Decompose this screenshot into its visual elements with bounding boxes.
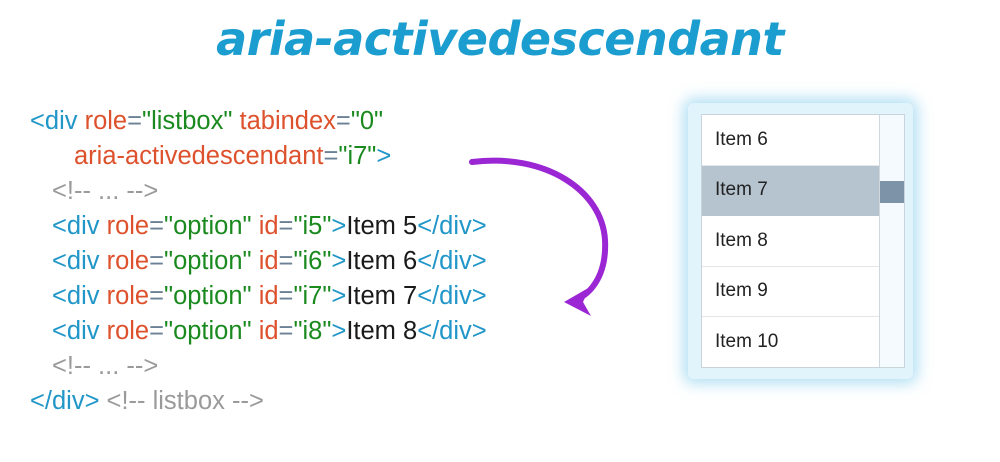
code-token-tag: <div xyxy=(52,212,107,240)
code-token-str: "i5" xyxy=(293,212,331,240)
code-token-attr: role xyxy=(107,317,150,345)
code-token-attr: id xyxy=(252,282,279,310)
code-token-str: "listbox" xyxy=(142,107,232,135)
code-token-tag: </div> xyxy=(417,212,486,240)
code-token-comment: <!-- listbox --> xyxy=(99,387,263,415)
listbox-option-i8[interactable]: Item 8 xyxy=(702,216,879,267)
option-list: Item 6Item 7Item 8Item 9Item 10 xyxy=(702,115,879,367)
listbox-option-label: Item 6 xyxy=(715,129,768,151)
code-token-str: "option" xyxy=(164,282,252,310)
code-token-attr: role xyxy=(85,107,128,135)
code-token-txt: Item 5 xyxy=(346,212,417,240)
listbox-widget: Item 6Item 7Item 8Item 9Item 10 xyxy=(688,103,918,381)
code-token-str: "option" xyxy=(164,212,252,240)
code-token-eq: = xyxy=(336,107,351,135)
code-token-tag: > xyxy=(331,247,346,275)
code-token-attr: role xyxy=(107,282,150,310)
code-token-eq: = xyxy=(279,317,294,345)
line-option-i5: <div role="option" id="i5">Item 5</div> xyxy=(30,209,487,244)
line-comment-top: <!-- ... --> xyxy=(30,174,487,209)
code-token-txt: Item 6 xyxy=(346,247,417,275)
code-sample: <div role="listbox" tabindex="0"aria-act… xyxy=(30,104,487,419)
code-token-str: "i7" xyxy=(338,142,376,170)
listbox-option-label: Item 8 xyxy=(715,230,768,252)
code-token-attr: id xyxy=(252,317,279,345)
code-token-tag: <div xyxy=(52,317,107,345)
line-option-i8: <div role="option" id="i8">Item 8</div> xyxy=(30,314,487,349)
line-close-listbox: </div> <!-- listbox --> xyxy=(30,384,487,419)
code-token-str: "option" xyxy=(164,247,252,275)
line-option-i7: <div role="option" id="i7">Item 7</div> xyxy=(30,279,487,314)
listbox-option-label: Item 9 xyxy=(715,280,768,302)
code-token-attr: aria-activedescendant xyxy=(74,142,323,170)
code-token-attr: role xyxy=(107,212,150,240)
page-title: aria-activedescendant xyxy=(0,12,1000,66)
listbox-option-label: Item 10 xyxy=(715,331,778,353)
code-token-tag: <div xyxy=(52,282,107,310)
line-comment-bottom: <!-- ... --> xyxy=(30,349,487,384)
line-open-listbox: <div role="listbox" tabindex="0" xyxy=(30,104,487,139)
listbox-option-i7[interactable]: Item 7 xyxy=(702,166,879,217)
code-token-eq: = xyxy=(127,107,142,135)
code-token-tag: <div xyxy=(30,107,85,135)
code-token-str: "option" xyxy=(164,317,252,345)
code-token-attr: id xyxy=(252,212,279,240)
code-token-tag: </div> xyxy=(417,317,486,345)
code-token-tag: <div xyxy=(52,247,107,275)
code-token-comment: <!-- ... --> xyxy=(52,352,158,380)
code-token-eq: = xyxy=(279,282,294,310)
vertical-scrollbar[interactable] xyxy=(879,115,904,367)
code-token-str: "i6" xyxy=(293,247,331,275)
code-token-eq: = xyxy=(323,142,338,170)
code-token-eq: = xyxy=(149,212,164,240)
code-token-str: "i7" xyxy=(293,282,331,310)
code-token-tag: </div> xyxy=(30,387,99,415)
code-token-tag: > xyxy=(376,142,391,170)
code-token-tag: > xyxy=(331,317,346,345)
code-token-eq: = xyxy=(149,317,164,345)
listbox-option-i9[interactable]: Item 9 xyxy=(702,267,879,318)
code-token-eq: = xyxy=(279,247,294,275)
code-token-tag: > xyxy=(331,282,346,310)
code-token-eq: = xyxy=(149,282,164,310)
code-token-tag: </div> xyxy=(417,282,486,310)
line-activedescendant: aria-activedescendant="i7"> xyxy=(30,139,487,174)
code-token-eq: = xyxy=(149,247,164,275)
code-token-comment: <!-- ... --> xyxy=(52,177,158,205)
code-token-tag: </div> xyxy=(417,247,486,275)
code-token-attr: role xyxy=(107,247,150,275)
code-token-str: "0" xyxy=(351,107,383,135)
code-token-str: "i8" xyxy=(293,317,331,345)
scrollbar-thumb[interactable] xyxy=(880,181,904,204)
code-token-tag: > xyxy=(331,212,346,240)
code-token-attr: id xyxy=(252,247,279,275)
listbox-container[interactable]: Item 6Item 7Item 8Item 9Item 10 xyxy=(701,114,905,368)
listbox-option-i6[interactable]: Item 6 xyxy=(702,115,879,166)
listbox-option-label: Item 7 xyxy=(715,179,768,201)
illustration-canvas: aria-activedescendant <div role="listbox… xyxy=(0,0,1000,462)
code-token-eq: = xyxy=(279,212,294,240)
listbox-option-i10[interactable]: Item 10 xyxy=(702,317,879,368)
code-token-txt: Item 7 xyxy=(346,282,417,310)
line-option-i6: <div role="option" id="i6">Item 6</div> xyxy=(30,244,487,279)
code-token-attr: tabindex xyxy=(232,107,336,135)
code-token-txt: Item 8 xyxy=(346,317,417,345)
